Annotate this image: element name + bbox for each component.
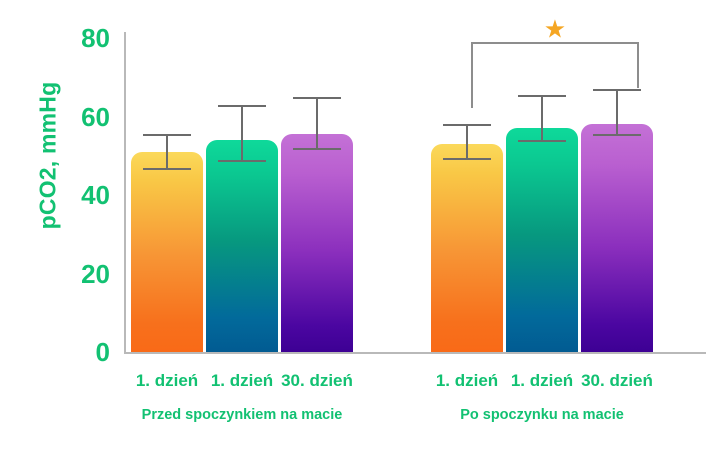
bar [506,128,578,352]
bar [131,152,203,352]
error-bar-cap-lower [443,158,491,160]
plot-area: ★1. dzień1. dzień30. dzień1. dzień1. dzi… [0,0,720,449]
significance-star-icon: ★ [544,18,566,43]
error-bar-cap-lower [293,148,341,150]
error-bar-cap-upper [143,134,191,136]
error-bar-cap-upper [218,105,266,107]
error-bar-cap-upper [293,97,341,99]
error-bar-stem [466,124,468,157]
x-axis-group-label: Po spoczynku na macie [392,407,692,423]
error-bar-stem [616,89,618,134]
error-bar-cap-upper [518,95,566,97]
x-axis-category-label: 30. dzień [557,371,677,391]
x-axis-group-label: Przed spoczynkiem na macie [92,407,392,423]
x-axis-category-label: 30. dzień [257,371,377,391]
error-bar-stem [241,105,243,160]
error-bar-stem [541,95,543,140]
bar [581,124,653,352]
bar-chart: pCO2, mmHg 806040200 ★1. dzień1. dzień30… [0,0,720,449]
error-bar-cap-lower [143,168,191,170]
error-bar-cap-upper [593,89,641,91]
error-bar-cap-lower [593,134,641,136]
significance-bracket-left-leg [471,42,473,108]
error-bar-cap-lower [218,160,266,162]
error-bar-stem [166,134,168,167]
significance-bracket-right-leg [637,42,639,88]
bar [431,144,503,352]
error-bar-cap-lower [518,140,566,142]
bar [206,140,278,352]
error-bar-stem [316,97,318,148]
bar [281,134,353,352]
error-bar-cap-upper [443,124,491,126]
